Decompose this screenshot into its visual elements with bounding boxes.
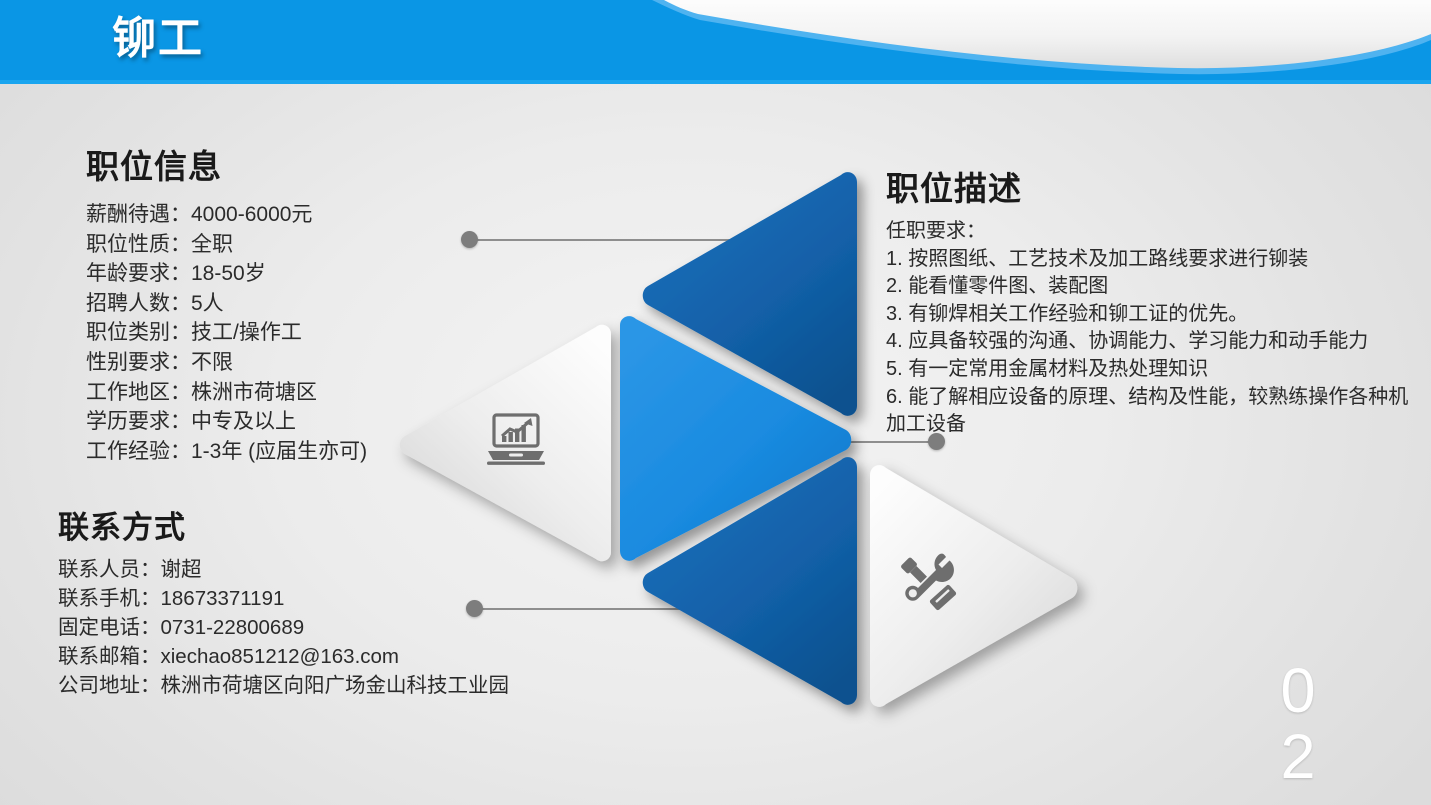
triangle-number-digit: 2	[1260, 724, 1336, 790]
job-description-item: 1. 按照图纸、工艺技术及加工路线要求进行铆装	[886, 246, 1421, 274]
wrench-screwdriver-icon	[900, 553, 964, 615]
job-info-line: 职位类别：技工/操作工	[86, 318, 367, 348]
job-info-heading: 职位信息	[86, 140, 222, 188]
job-info-line: 招聘人数：5人	[86, 289, 367, 319]
job-info-line: 工作地区：株洲市荷塘区	[86, 378, 367, 408]
triangle-number-digit: 1	[1415, 436, 1431, 502]
contact-line: 公司地址：株洲市荷塘区向阳广场金山科技工业园	[58, 671, 509, 700]
triangle-number-digit: 0	[1260, 658, 1336, 724]
header-accent-strip	[0, 80, 1431, 84]
page-title: 铆工	[112, 8, 204, 70]
job-info-line: 工作经验：1-3年 (应届生亦可)	[86, 437, 367, 467]
job-info-line: 职位性质：全职	[86, 230, 367, 260]
contact-line: 联系手机：18673371191	[58, 584, 509, 613]
job-info-list: 薪酬待遇：4000-6000元职位性质：全职年龄要求：18-50岁招聘人数：5人…	[86, 200, 367, 466]
job-description-heading: 职位描述	[886, 162, 1022, 210]
contact-line: 联系邮箱：xiechao851212@163.com	[58, 642, 509, 671]
slide-root: 铆工 职位信息 薪酬待遇：4000-6000元职位性质：全职年龄要求：18-50…	[0, 0, 1431, 805]
triangle-step-01-number: 01	[1415, 370, 1431, 502]
connector-dot-top	[461, 231, 478, 248]
connector-dot-middle	[928, 433, 945, 450]
job-description-intro: 任职要求：	[886, 218, 1421, 246]
triangle-step-02-number: 02	[1260, 658, 1336, 790]
connector-dot-bottom	[466, 600, 483, 617]
job-description-item: 5. 有一定常用金属材料及热处理知识	[886, 356, 1421, 384]
triangle-icon-laptop[interactable]	[397, 322, 617, 564]
job-info-line: 学历要求：中专及以上	[86, 407, 367, 437]
triangle-number-digit: 0	[1415, 370, 1431, 436]
job-description-item: 3. 有铆焊相关工作经验和铆工证的优先。	[886, 301, 1421, 329]
job-description-item: 6. 能了解相应设备的原理、结构及性能，较熟练操作各种机加工设备	[886, 384, 1421, 439]
job-info-line: 薪酬待遇：4000-6000元	[86, 200, 367, 230]
triangle-icon-tools[interactable]	[860, 463, 1085, 711]
job-description-item: 4. 应具备较强的沟通、协调能力、学习能力和动手能力	[886, 328, 1421, 356]
triangle-step-03[interactable]: 03	[640, 455, 865, 709]
contact-list: 联系人员：谢超联系手机：18673371191固定电话：0731-2280068…	[58, 555, 509, 700]
job-info-line: 年龄要求：18-50岁	[86, 259, 367, 289]
job-info-line: 性别要求：不限	[86, 348, 367, 378]
laptop-chart-icon	[485, 412, 547, 468]
contact-heading: 联系方式	[58, 502, 186, 547]
job-description-body: 任职要求：1. 按照图纸、工艺技术及加工路线要求进行铆装2. 能看懂零件图、装配…	[886, 218, 1421, 439]
header-swoosh-decoration	[0, 0, 1431, 84]
contact-line: 固定电话：0731-22800689	[58, 613, 509, 642]
job-description-item: 2. 能看懂零件图、装配图	[886, 273, 1421, 301]
header-bar: 铆工	[0, 0, 1431, 84]
